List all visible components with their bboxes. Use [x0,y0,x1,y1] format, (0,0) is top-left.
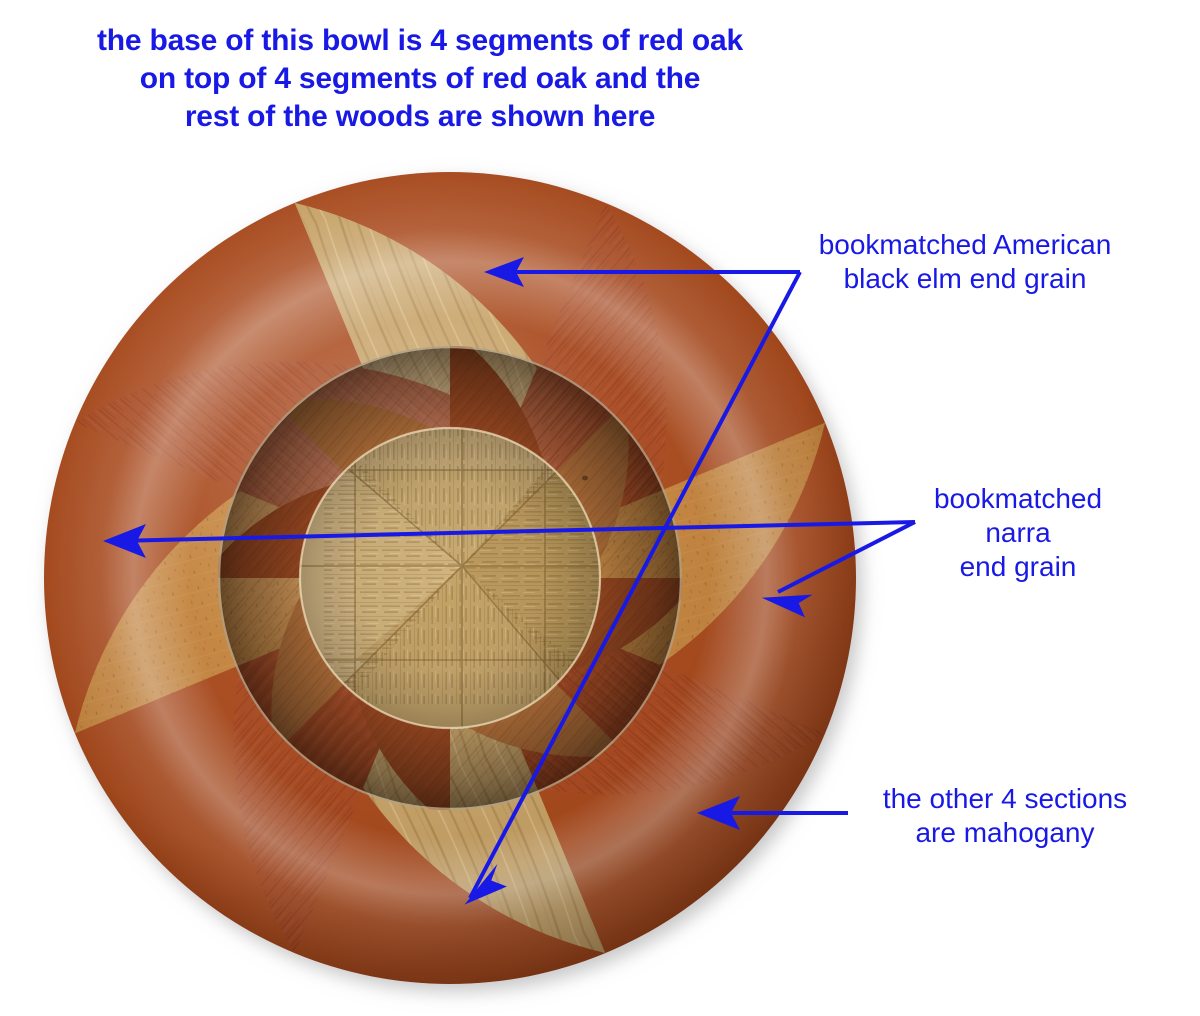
caption-line-3: rest of the woods are shown here [0,98,840,136]
annotation-narra-line-1: bookmatched [868,482,1168,516]
annotation-narra-line-3: end grain [868,550,1168,584]
caption-line-2: on top of 4 segments of red oak and the [0,60,840,98]
wood-knot-speck [582,476,588,481]
annotation-elm-line-2: black elm end grain [780,262,1150,296]
annotation-label-elm: bookmatched American black elm end grain [780,228,1150,296]
screenshot-canvas: the base of this bowl is 4 segments of r… [0,0,1200,1016]
annotation-label-mahogany: the other 4 sections are mahogany [840,782,1170,850]
caption-block: the base of this bowl is 4 segments of r… [0,22,840,136]
annotation-narra-line-2: narra [868,516,1168,550]
annotation-mahogany-line-1: the other 4 sections [840,782,1170,816]
annotation-label-narra: bookmatched narra end grain [868,482,1168,584]
annotation-elm-line-1: bookmatched American [780,228,1150,262]
annotation-mahogany-line-2: are mahogany [840,816,1170,850]
caption-line-1: the base of this bowl is 4 segments of r… [0,22,840,60]
